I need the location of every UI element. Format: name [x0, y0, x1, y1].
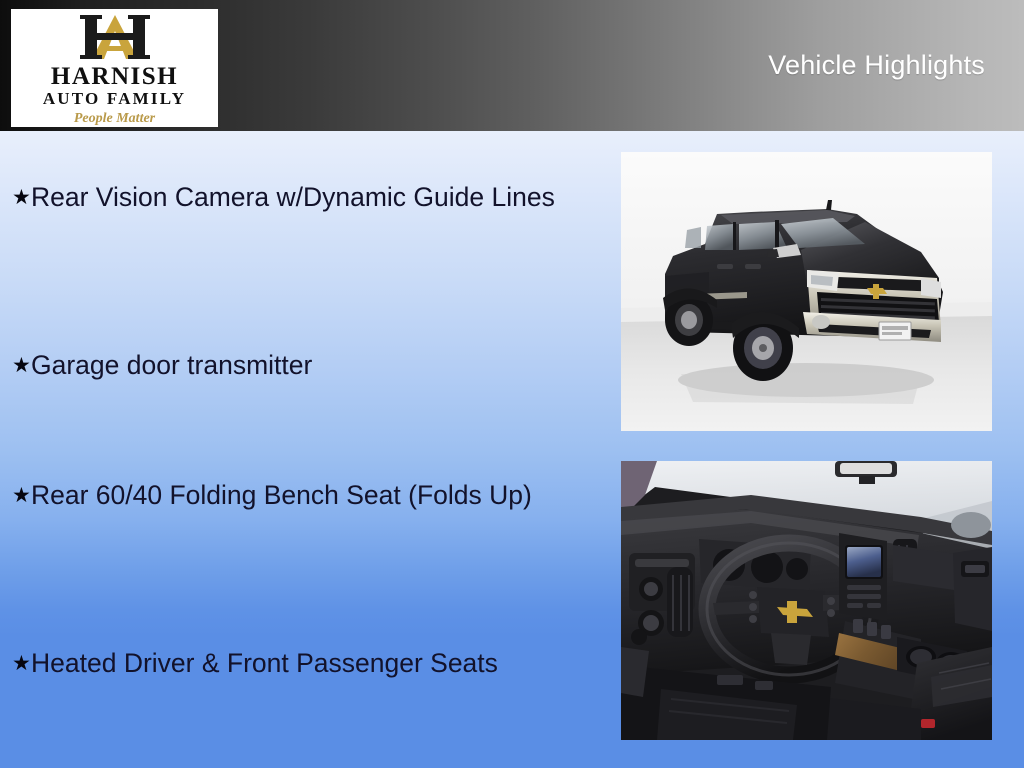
logo-tagline: People Matter	[74, 111, 155, 127]
list-item: ★ Rear 60/40 Folding Bench Seat (Folds U…	[0, 478, 600, 513]
page-title: Vehicle Highlights	[768, 50, 985, 81]
list-item: ★ Garage door transmitter	[0, 348, 600, 383]
list-item: ★ Heated Driver & Front Passenger Seats	[0, 646, 600, 681]
highlight-text: Rear 60/40 Folding Bench Seat (Folds Up)	[31, 478, 600, 513]
star-bullet-icon: ★	[0, 180, 31, 215]
exterior-photo	[621, 152, 992, 431]
interior-photo	[621, 461, 992, 740]
star-bullet-icon: ★	[0, 348, 31, 383]
dealer-logo: HARNISH AUTO FAMILY People Matter	[11, 9, 218, 127]
logo-brand-name: HARNISH	[51, 64, 178, 89]
slide-canvas: Vehicle Highlights HARNISH AUTO FAMILY	[0, 0, 1024, 768]
harnish-monogram-icon	[60, 13, 170, 61]
star-bullet-icon: ★	[0, 646, 31, 681]
logo-brand-subname: AUTO FAMILY	[43, 89, 186, 108]
list-item: ★ Rear Vision Camera w/Dynamic Guide Lin…	[0, 180, 600, 215]
highlight-text: Garage door transmitter	[31, 348, 600, 383]
star-bullet-icon: ★	[0, 478, 31, 513]
highlight-text: Heated Driver & Front Passenger Seats	[31, 646, 600, 681]
highlight-text: Rear Vision Camera w/Dynamic Guide Lines	[31, 180, 600, 215]
